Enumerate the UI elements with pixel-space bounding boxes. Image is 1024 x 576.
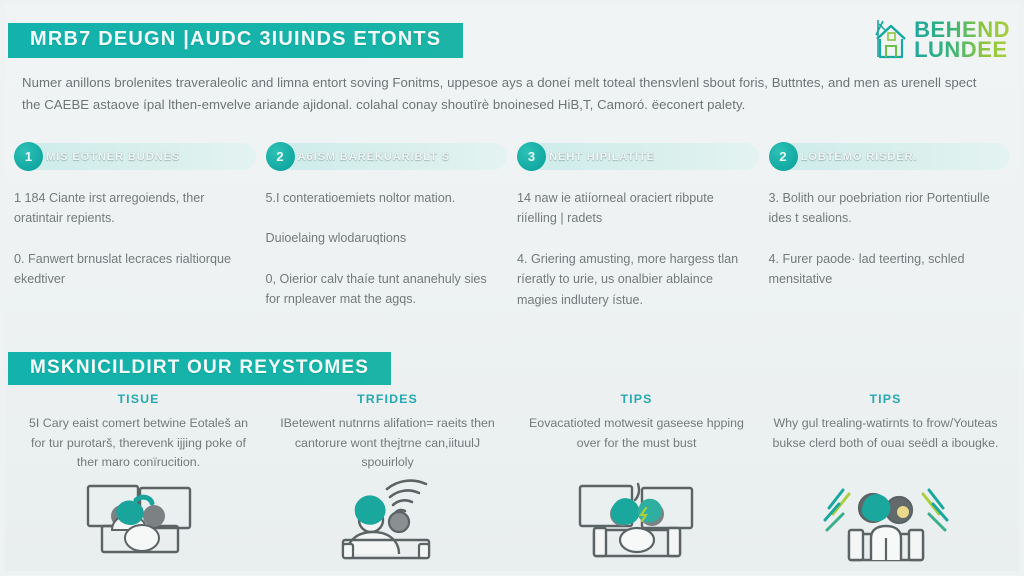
tip-3-icon-wrap	[572, 480, 702, 572]
column-1-header: 1 MIS EOTNER BUDNES	[14, 143, 256, 170]
column-3-para-2: 4. Griering amusting, more hargess tlan …	[517, 249, 751, 310]
intro-paragraph: Numer anillons brolenites traveraleolic …	[22, 72, 998, 116]
tip-4-title: TIPS	[769, 392, 1002, 406]
brand-wordmark: BEHEND LUNDEE	[914, 20, 1010, 60]
tip-2-icon-wrap	[323, 480, 453, 572]
column-4-para-1: 3. Bolith our poebriation rior Portentiu…	[769, 188, 1003, 229]
column-4-heading: LOBTEMO RISDER.	[801, 151, 918, 163]
house-outline-icon	[872, 17, 912, 63]
column-3-body: 14 naw ie atiíorneal oraciert ribpute ri…	[517, 188, 759, 310]
page-title: MRB7 DEUGN |AUDC 3IUINDS ETONTS	[30, 28, 441, 51]
section-title-banner: MSKNICILDIRT OUR REYSTOMES	[8, 352, 391, 385]
column-1: 1 MIS EOTNER BUDNES 1 184 Ciante irst ar…	[14, 143, 256, 310]
tips-icons-row	[14, 478, 1010, 574]
column-2: 2 A6ISM BAREKUARIBLT S 5.I conteratioemi…	[266, 143, 508, 310]
tip-2: TRFIDES IBetewent nutnrns alifation= rae…	[263, 392, 512, 473]
tip-1-title: TISUE	[22, 392, 255, 406]
column-3-badge: 3	[517, 142, 546, 171]
tip-2-title: TRFIDES	[271, 392, 504, 406]
tip-1-text: 5I Cary eaist comert betwine Eotaleš an …	[22, 414, 255, 473]
tip-3-text: Eovacatioted motwesit gaseese hpping ove…	[520, 414, 753, 453]
page-title-banner: MRB7 DEUGN |AUDC 3IUINDS ETONTS	[8, 23, 463, 58]
brand-line-2: LUNDEE	[914, 40, 1010, 60]
infographic-page: BEHEND LUNDEE MRB7 DEUGN |AUDC 3IUINDS E…	[0, 0, 1024, 576]
tip-4: TIPS Why gul trealing-watirnts to frow/Y…	[761, 392, 1010, 473]
people-celebrate-icon	[821, 478, 951, 575]
column-1-body: 1 184 Ciante irst arregoiends, ther orat…	[14, 188, 256, 290]
section-title: MSKNICILDIRT OUR REYSTOMES	[30, 357, 369, 379]
column-3-para-1: 14 naw ie atiíorneal oraciert ribpute ri…	[517, 188, 751, 229]
column-2-body: 5.I conteratioemiets noltor mation. Duio…	[266, 188, 508, 310]
numbered-columns: 1 MIS EOTNER BUDNES 1 184 Ciante irst ar…	[14, 143, 1010, 310]
column-1-para-1: 1 184 Ciante irst arregoiends, ther orat…	[14, 188, 248, 229]
tip-3: TIPS Eovacatioted motwesit gaseese hppin…	[512, 392, 761, 473]
column-2-heading: A6ISM BAREKUARIBLT S	[298, 151, 450, 163]
screens-bed-people-icon	[572, 478, 702, 575]
column-1-heading: MIS EOTNER BUDNES	[46, 151, 180, 163]
column-2-para-1: 5.I conteratioemiets noltor mation.	[266, 188, 500, 208]
column-4-para-2: 4. Furer paode· lad teerting, schled men…	[769, 249, 1003, 290]
screens-people-icon	[74, 478, 204, 575]
column-3: 3 NEHT HIPILATITE 14 naw ie atiíorneal o…	[517, 143, 759, 310]
tip-2-text: IBetewent nutnrns alifation= raeits then…	[271, 414, 504, 473]
column-2-para-2: Duioelaing wlodaruqtions	[266, 228, 500, 248]
column-4: 2 LOBTEMO RISDER. 3. Bolith our poebriat…	[769, 143, 1011, 310]
tips-row: TISUE 5I Cary eaist comert betwine Eotal…	[14, 392, 1010, 473]
tip-4-text: Why gul trealing-watirnts to frow/Youtea…	[769, 414, 1002, 453]
tip-1: TISUE 5I Cary eaist comert betwine Eotal…	[14, 392, 263, 473]
column-2-badge: 2	[266, 142, 295, 171]
column-4-badge: 2	[769, 142, 798, 171]
brand-logo: BEHEND LUNDEE	[872, 16, 1010, 64]
column-4-header: 2 LOBTEMO RISDER.	[769, 143, 1011, 170]
column-4-body: 3. Bolith our poebriation rior Portentiu…	[769, 188, 1011, 290]
column-2-header: 2 A6ISM BAREKUARIBLT S	[266, 143, 508, 170]
column-3-header: 3 NEHT HIPILATITE	[517, 143, 759, 170]
tip-1-icon-wrap	[74, 480, 204, 572]
column-1-para-2: 0. Fanwert brnuslat lecraces rialtiorque…	[14, 249, 248, 290]
column-3-heading: NEHT HIPILATITE	[549, 151, 655, 163]
column-2-para-3: 0, Oierior calv thaíe tunt ananehuly sie…	[266, 269, 500, 310]
tip-3-title: TIPS	[520, 392, 753, 406]
column-1-badge: 1	[14, 142, 43, 171]
tip-4-icon-wrap	[821, 480, 951, 572]
wifi-people-icon	[323, 478, 453, 575]
